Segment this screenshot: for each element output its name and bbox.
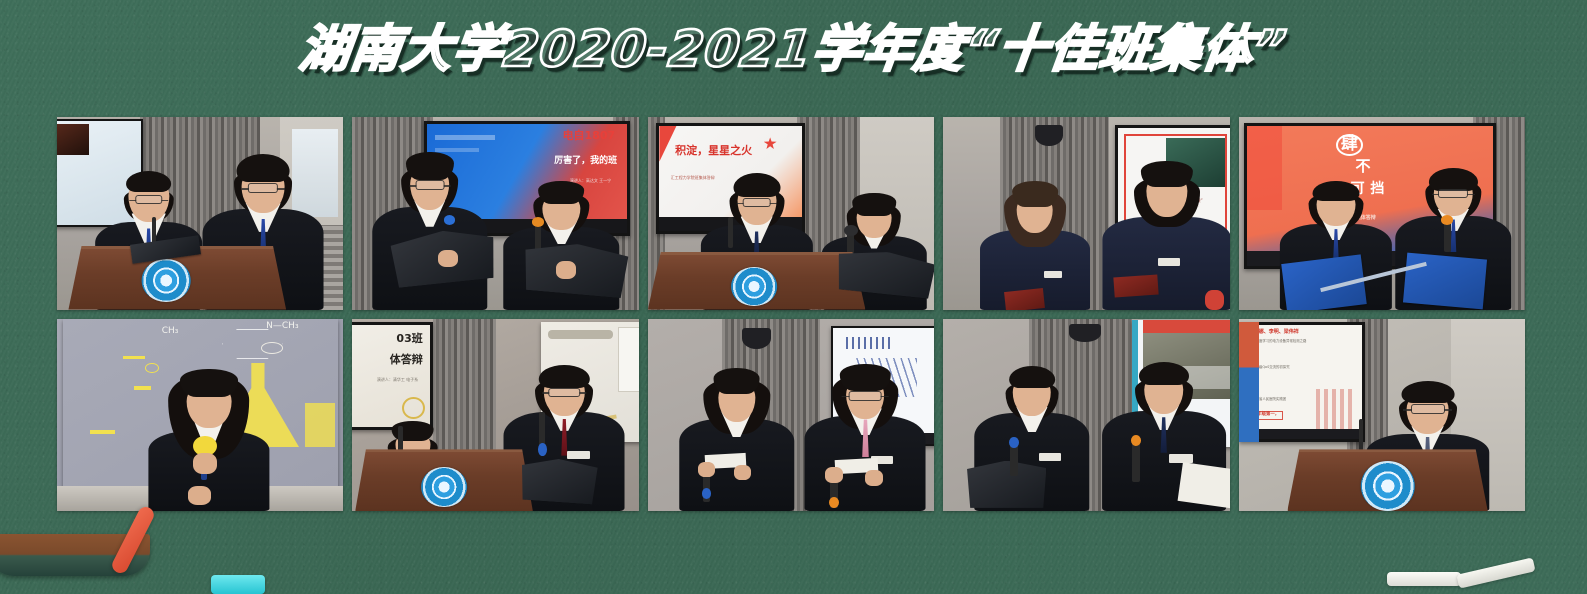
photo-10-podium-mic (1359, 419, 1364, 454)
photo-3-slide-title: 积淀，星星之火 (675, 145, 752, 157)
photo-7-university-emblem (421, 467, 467, 507)
photo-9-ceiling-camera (1069, 324, 1101, 341)
gallery-photo-9[interactable]: 同心共生平凡之路 (943, 319, 1229, 512)
photo-10-side-screen (1239, 322, 1259, 441)
photo-8-hand-left-a (698, 462, 715, 477)
photo-9-hair-left (1009, 366, 1055, 388)
gallery-photo-10[interactable]: 张汉娜、李明、梁伟祥 基于深度学习的电力设备异常检测之路 获得省级QoS交流的初… (1239, 319, 1525, 512)
photo-6-slide-formula-2: N—CH₃ (266, 322, 298, 331)
photo-2-hand-right (556, 261, 576, 278)
photo-10-university-emblem (1360, 461, 1414, 511)
gallery-photo-8[interactable] (648, 319, 934, 512)
photo-8-person-right (802, 353, 928, 511)
photo-6-hair (180, 369, 238, 397)
photo-5-mic-head (1441, 215, 1454, 225)
photo-8-mic-head-left (702, 488, 712, 499)
photo-4-name-badge-right (1158, 258, 1180, 266)
photo-9-folder-left (967, 461, 1046, 508)
photo-5-hair-left (1312, 181, 1359, 202)
photo-8-hair-left (713, 368, 760, 394)
photo-8-hand-right-a (825, 467, 843, 483)
photo-2-glasses-left (415, 180, 444, 190)
photo-4-red-ornament (1205, 290, 1224, 310)
cyan-chalk[interactable] (211, 575, 265, 594)
photo-8-hair-right (840, 364, 890, 391)
photo-7-glasses-right (549, 388, 581, 397)
photo-7-name-badge-right (567, 451, 590, 459)
photo-2-hair-left (406, 152, 454, 180)
photo-2-mic-head-right (532, 217, 545, 227)
gallery-photo-7[interactable]: 03班 体答辩 演讲人：清华工 电子系 (352, 319, 638, 512)
photo-2-slide-title: 电自1807 (563, 130, 616, 142)
photo-5-folder-right (1403, 252, 1487, 309)
photo-4-hair-left (1012, 181, 1058, 207)
photo-4-name-badge-left (1044, 271, 1062, 278)
photo-9-paper-right (1177, 462, 1229, 508)
photo-4-certificate-left (1004, 288, 1045, 310)
photo-3-podium-mic (728, 217, 733, 248)
photo-5-mic-body (1444, 221, 1451, 252)
photo-4-certificate-right (1114, 275, 1159, 298)
photo-6-slide-formula-1: CH₃ (162, 327, 179, 336)
gallery-photo-4[interactable]: 大会 “美好人生第一课”最好人生第二课 (943, 117, 1229, 310)
page-title: 湖南大学2020-2021学年度“十佳班集体” (297, 24, 1290, 74)
photo-2-person-left (370, 144, 490, 310)
photo-1-glasses-left (135, 195, 162, 204)
photo-gallery-grid: 电自1807 厉害了，我的班 演讲人：高达文 王一宁 (57, 117, 1525, 511)
photo-9-name-badge-right (1169, 454, 1193, 462)
photo-8-glasses-right (849, 391, 882, 400)
photo-3-glasses-left (742, 198, 771, 207)
photo-8-person-left (676, 357, 796, 511)
photo-7-mic-body (539, 412, 545, 446)
gallery-photo-6[interactable]: CH₃ N—CH₃ (57, 319, 343, 512)
photo-1-hair-left (126, 171, 172, 192)
white-chalk-horizontal[interactable] (1387, 572, 1461, 586)
photo-6-person (143, 357, 275, 511)
photo-10-hair (1401, 381, 1454, 402)
photo-7-mic-head (538, 443, 547, 455)
photo-1-microphone (152, 217, 157, 244)
photo-6-hand-upper (193, 453, 217, 475)
gallery-photo-2[interactable]: 电自1807 厉害了，我的班 演讲人：高达文 王一宁 (352, 117, 638, 310)
gallery-photo-5[interactable]: 肆 不 可 挡 十佳班集体答辩 金融与统计学院 (1239, 117, 1525, 310)
gallery-photo-3[interactable]: 积淀，星星之火 汇工程力学院班集体答辩 (648, 117, 934, 310)
photo-2-slide-subtitle: 厉害了，我的班 (554, 157, 617, 166)
photo-10-glasses (1411, 404, 1445, 414)
photo-9-mic-right (1132, 440, 1140, 482)
photo-3-university-emblem (731, 267, 777, 306)
photo-5-slide-title: 肆 (1336, 134, 1363, 156)
photo-7-slide-class: 03班 (396, 333, 422, 345)
photo-7-hair-right (539, 365, 589, 388)
photo-9-person-right (1098, 349, 1230, 511)
photo-4-hair-right (1140, 161, 1192, 187)
photo-1-glasses-right (248, 183, 278, 193)
photo-8-mic-head-right (829, 497, 839, 508)
photo-5-glasses-right (1438, 189, 1468, 198)
photo-1-hair-right (237, 154, 290, 181)
photo-7-podium-mic (398, 426, 403, 453)
photo-8-hand-left-b (734, 465, 751, 480)
photo-5-hair-right (1429, 168, 1477, 191)
photo-9-hair-right (1139, 362, 1189, 385)
photo-4-ceiling-camera (1035, 125, 1064, 146)
photo-7-slide-title: 体答辩 (390, 354, 423, 366)
photo-9-name-badge-left (1039, 453, 1061, 461)
photo-3-hair-right (852, 193, 896, 216)
photo-2-hand-left (438, 250, 458, 267)
photo-6-hand-lower (188, 486, 212, 504)
photo-3-hair-left (733, 173, 780, 197)
photo-1-university-emblem (141, 259, 190, 301)
photo-9-mic-head-left (1009, 437, 1019, 448)
photo-7-slide-sub: 演讲人：清华工 电子系 (377, 378, 418, 382)
photo-9-person-left (972, 353, 1092, 511)
photo-6-beaker-icon (305, 403, 335, 447)
title-container: 湖南大学2020-2021学年度“十佳班集体” (0, 24, 1587, 74)
photo-4-person-left (978, 167, 1093, 309)
photo-4-person-right (1098, 144, 1230, 310)
photo-8-hand-right-b (865, 470, 883, 486)
photo-2-hair-right (539, 181, 585, 204)
gallery-photo-1[interactable] (57, 117, 343, 310)
